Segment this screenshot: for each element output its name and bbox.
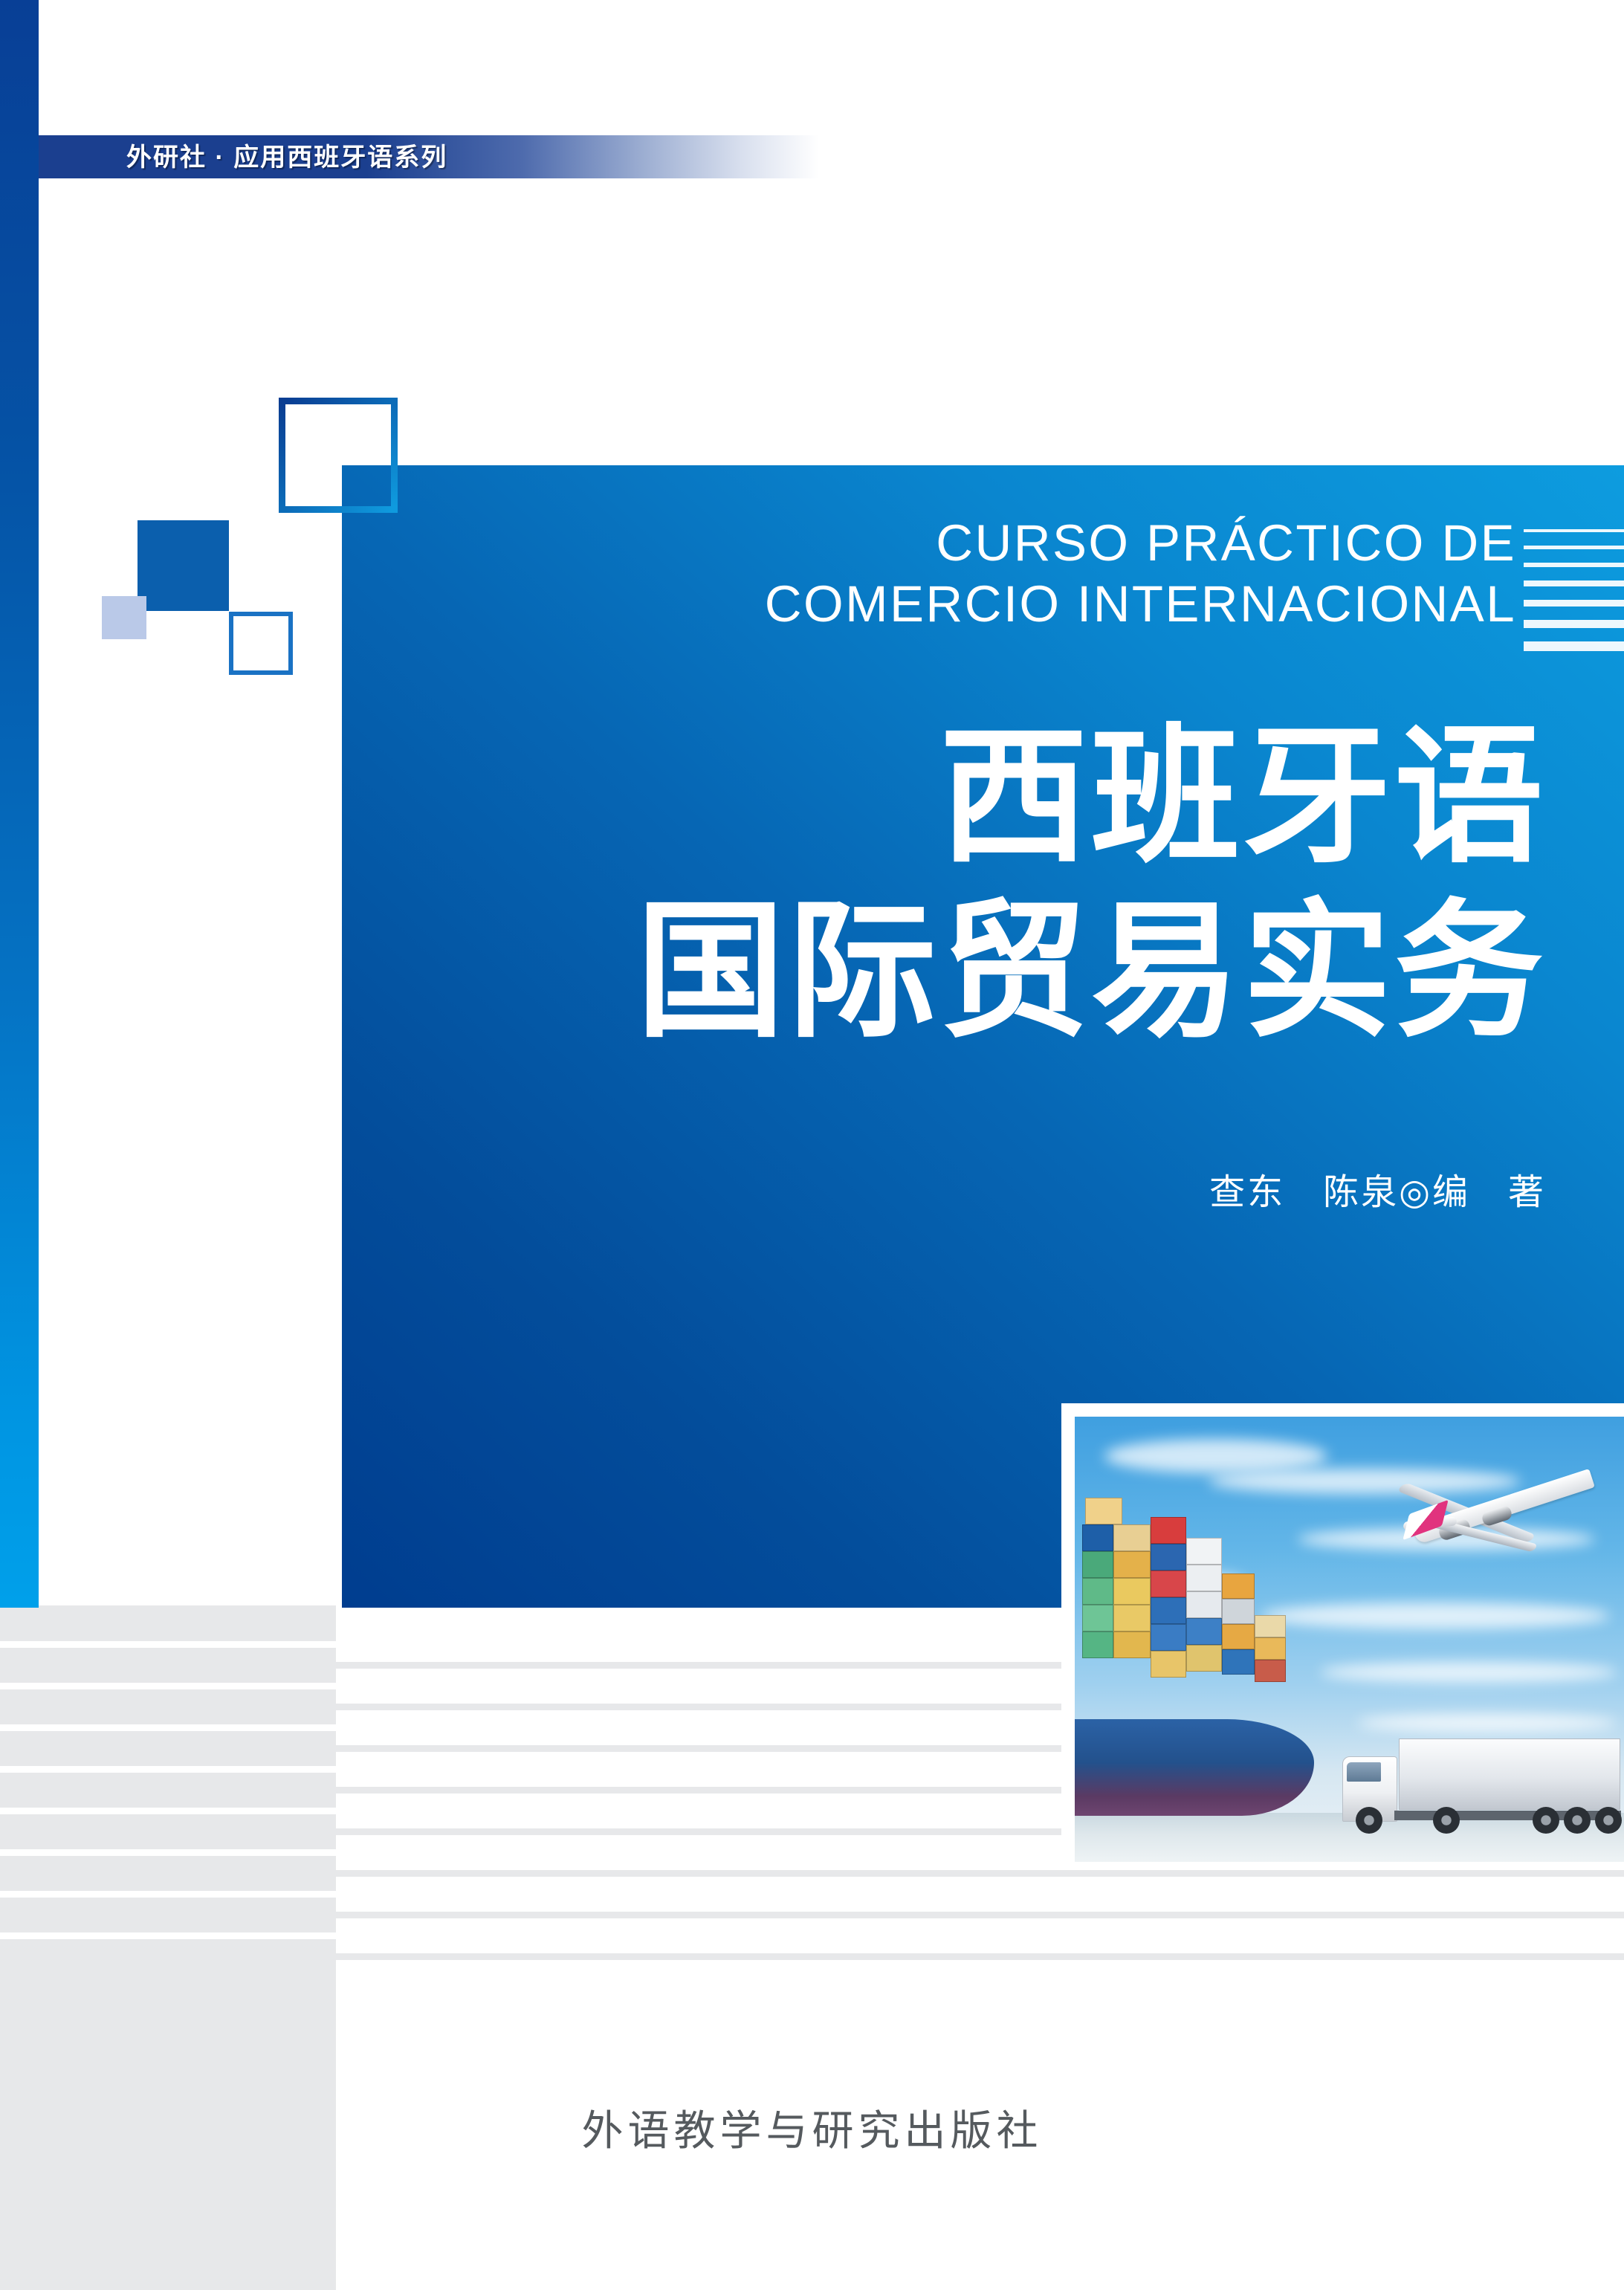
decorative-line bbox=[1524, 620, 1624, 628]
shipping-container bbox=[1255, 1615, 1286, 1637]
author-line: 查东 陈泉◎编 著 bbox=[342, 1170, 1546, 1214]
cloud-shape bbox=[1261, 1602, 1610, 1629]
shipping-container bbox=[1222, 1573, 1255, 1599]
cloud-shape bbox=[1104, 1439, 1327, 1473]
spanish-title: CURSO PRÁCTICO DE COMERCIO INTERNACIONAL bbox=[342, 513, 1516, 635]
stripe-gap bbox=[0, 1932, 336, 1939]
decorative-line bbox=[1524, 546, 1624, 549]
shipping-container bbox=[1113, 1605, 1151, 1631]
left-accent-bar bbox=[0, 0, 39, 1608]
stripe-gap bbox=[0, 1766, 336, 1773]
chinese-title-line-2: 国际贸易实务 bbox=[342, 884, 1546, 1059]
shipping-container bbox=[1186, 1591, 1222, 1618]
decorative-square-outline-large bbox=[279, 398, 398, 513]
cloud-shape bbox=[1357, 1714, 1617, 1732]
shipping-container bbox=[1082, 1578, 1113, 1605]
chinese-title-line-1: 西班牙语 bbox=[342, 710, 1546, 884]
shipping-container bbox=[1186, 1565, 1222, 1591]
shipping-container bbox=[1186, 1645, 1222, 1672]
decorative-square-pale bbox=[102, 596, 146, 639]
shipping-container bbox=[1113, 1524, 1151, 1551]
shipping-container bbox=[1151, 1517, 1186, 1544]
chinese-title: 西班牙语 国际贸易实务 bbox=[342, 710, 1546, 1059]
shipping-container bbox=[1113, 1631, 1151, 1658]
shipping-container bbox=[1222, 1649, 1255, 1675]
decorative-line bbox=[1524, 580, 1624, 586]
shipping-container bbox=[1222, 1624, 1255, 1649]
stripe-gap bbox=[0, 1641, 336, 1648]
truck-wheel bbox=[1433, 1807, 1460, 1834]
truck-window bbox=[1347, 1762, 1381, 1782]
decorative-line bbox=[1524, 529, 1624, 532]
decorative-line bbox=[1524, 600, 1624, 607]
container-stack bbox=[1075, 1483, 1298, 1728]
decorative-square-solid bbox=[138, 520, 229, 611]
stripe-line bbox=[336, 1953, 1624, 1960]
decorative-line bbox=[1524, 563, 1624, 567]
truck-trailer bbox=[1399, 1738, 1620, 1810]
stripe-line bbox=[336, 1870, 1624, 1877]
spanish-title-line-2: COMERCIO INTERNACIONAL bbox=[342, 574, 1516, 635]
shipping-container bbox=[1151, 1544, 1186, 1571]
shipping-container bbox=[1085, 1498, 1122, 1524]
cover-photo-frame bbox=[1061, 1403, 1624, 1862]
shipping-container bbox=[1151, 1571, 1186, 1597]
stripe-gap bbox=[0, 1849, 336, 1856]
stripe-line bbox=[336, 1912, 1624, 1918]
shipping-container bbox=[1186, 1538, 1222, 1565]
publisher-name: 外语教学与研究出版社 bbox=[0, 2097, 1624, 2158]
truck-wheel bbox=[1356, 1807, 1382, 1834]
truck-wheel bbox=[1533, 1807, 1559, 1834]
shipping-container bbox=[1113, 1578, 1151, 1605]
spanish-title-line-1: CURSO PRÁCTICO DE bbox=[342, 513, 1516, 574]
cover-photo bbox=[1075, 1417, 1624, 1862]
decorative-line bbox=[1524, 641, 1624, 651]
shipping-container bbox=[1151, 1651, 1186, 1678]
book-cover: 外研社 · 应用西班牙语系列 CURSO PRÁCTICO DE COMERCI… bbox=[0, 0, 1624, 2290]
shipping-container bbox=[1082, 1631, 1113, 1658]
stripe-gap bbox=[0, 1724, 336, 1731]
truck-wheel bbox=[1564, 1807, 1591, 1834]
shipping-container bbox=[1082, 1524, 1113, 1551]
shipping-container bbox=[1151, 1624, 1186, 1651]
shipping-container bbox=[1186, 1618, 1222, 1645]
stripe-gap bbox=[0, 1808, 336, 1814]
shipping-container bbox=[1255, 1660, 1286, 1682]
cloud-shape bbox=[1320, 1662, 1617, 1683]
stripe-left-block bbox=[0, 1605, 336, 2290]
shipping-container bbox=[1082, 1605, 1113, 1631]
shipping-container bbox=[1222, 1599, 1255, 1624]
series-label: 外研社 · 应用西班牙语系列 bbox=[126, 138, 447, 177]
shipping-container bbox=[1255, 1637, 1286, 1660]
truck-wheel bbox=[1595, 1807, 1622, 1834]
stripe-gap bbox=[0, 1891, 336, 1898]
cargo-ship-hull bbox=[1075, 1719, 1314, 1816]
shipping-container bbox=[1082, 1551, 1113, 1578]
shipping-container bbox=[1151, 1597, 1186, 1624]
shipping-container bbox=[1113, 1551, 1151, 1578]
decorative-line-group bbox=[1524, 529, 1624, 664]
stripe-gap bbox=[0, 1683, 336, 1689]
decorative-square-outline-small bbox=[229, 612, 293, 675]
